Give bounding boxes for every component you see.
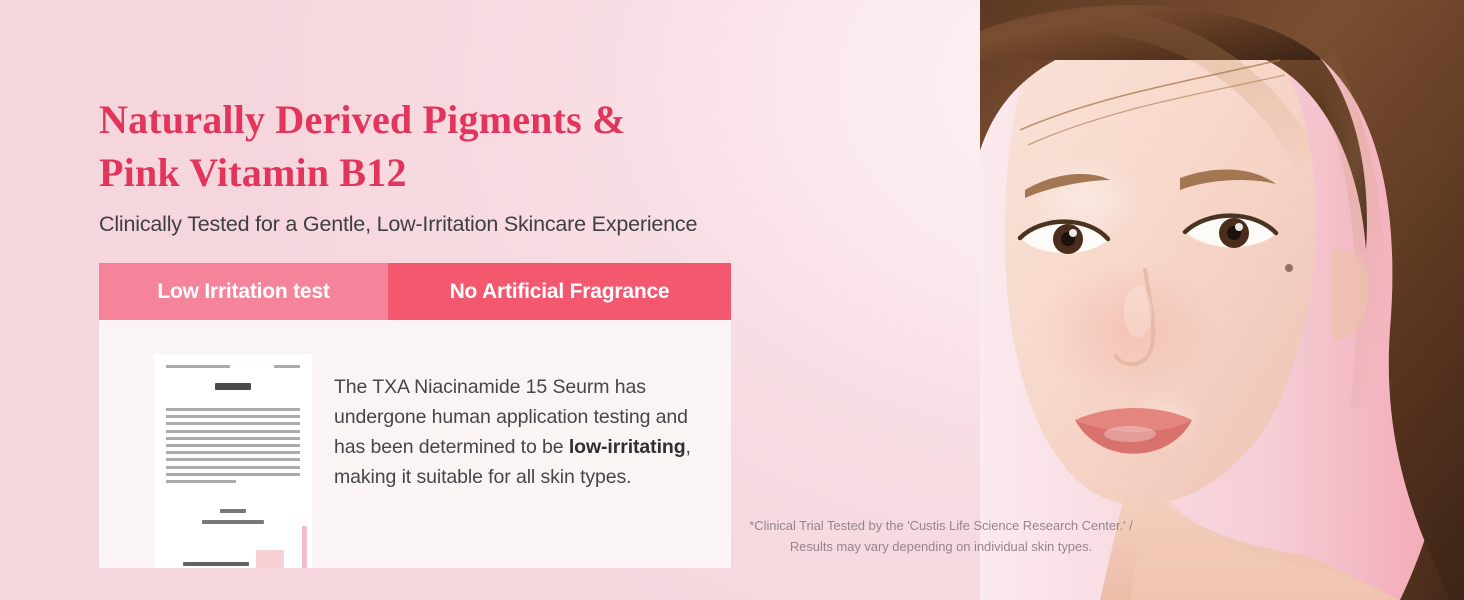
tab-low-irritation-test[interactable]: Low Irritation test — [99, 263, 388, 320]
certificate-seal-stamp — [256, 550, 284, 568]
subtitle: Clinically Tested for a Gentle, Low-Irri… — [99, 209, 697, 239]
certificate-body — [166, 408, 300, 483]
disclaimer-line-2: Results may vary depending on individual… — [706, 536, 1176, 557]
certificate-signature — [166, 550, 300, 568]
certificate-edge-mark — [302, 526, 307, 568]
panel-description: The TXA Niacinamide 15 Seurm has undergo… — [334, 372, 704, 492]
page-title: Naturally Derived Pigments & Pink Vitami… — [99, 93, 799, 199]
tab-no-artificial-fragrance[interactable]: No Artificial Fragrance — [388, 263, 731, 320]
certificate-thumbnail[interactable] — [154, 354, 312, 568]
model-photo — [980, 0, 1464, 600]
certificate-header-right — [274, 365, 300, 368]
certificate-document-image — [154, 354, 312, 568]
disclaimer: *Clinical Trial Tested by the 'Custis Li… — [706, 515, 1176, 557]
panel-description-emphasis: low-irritating — [569, 436, 686, 458]
model-portrait-illustration — [980, 0, 1464, 600]
tab-label: Low Irritation test — [157, 280, 329, 304]
certificate-title — [166, 377, 300, 395]
certificate-header-row — [166, 365, 300, 368]
promo-banner: Naturally Derived Pigments & Pink Vitami… — [0, 0, 1464, 600]
certificate-version-date — [166, 509, 300, 524]
certificate-header-left — [166, 365, 230, 368]
disclaimer-line-1: *Clinical Trial Tested by the 'Custis Li… — [706, 515, 1176, 536]
tab-bar: Low Irritation test No Artificial Fragra… — [99, 263, 731, 320]
tab-label: No Artificial Fragrance — [450, 280, 670, 304]
